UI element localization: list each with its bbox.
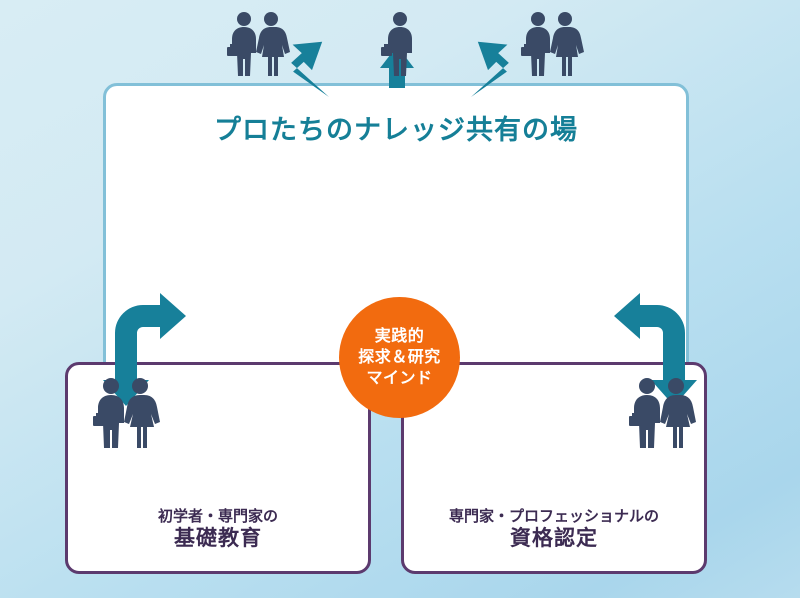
business-pair-icon [624, 374, 700, 452]
people-box-left [88, 374, 164, 457]
man-with-briefcase-figure [381, 12, 412, 76]
man-with-briefcase-figure [521, 12, 550, 76]
people-top-right [516, 8, 588, 85]
people-top-center [375, 8, 421, 85]
center-mindset-badge: 実践的 探求＆研究 マインド [339, 297, 460, 418]
man-with-briefcase-figure [93, 378, 124, 448]
box-certification-caption: 専門家・プロフェッショナルの 資格認定 [404, 507, 704, 553]
page-title: プロたちのナレッジ共有の場 [106, 108, 686, 147]
woman-figure [550, 12, 584, 76]
diagram-canvas: プロたちのナレッジ共有の場 初学者・専門家の 基礎教育 専門家・プロフェッショナ… [0, 0, 800, 598]
box-basic-education-subtitle: 初学者・専門家の [68, 507, 368, 526]
center-line-2: 探求＆研究 [358, 347, 441, 368]
business-pair-icon [516, 8, 588, 80]
center-line-3: マインド [366, 368, 432, 389]
woman-figure [124, 378, 160, 448]
box-basic-education-caption: 初学者・専門家の 基礎教育 [68, 507, 368, 553]
woman-figure [256, 12, 290, 76]
box-basic-education-title: 基礎教育 [68, 526, 368, 553]
business-pair-icon [222, 8, 294, 80]
box-certification-subtitle: 専門家・プロフェッショナルの [404, 507, 704, 526]
man-with-briefcase-figure [629, 378, 660, 448]
people-top-left [222, 8, 294, 85]
woman-figure [660, 378, 696, 448]
box-certification-title: 資格認定 [404, 526, 704, 553]
center-line-1: 実践的 [375, 326, 425, 347]
man-with-briefcase-figure [227, 12, 256, 76]
business-person-icon [375, 8, 421, 80]
people-box-right [624, 374, 700, 457]
business-pair-icon [88, 374, 164, 452]
